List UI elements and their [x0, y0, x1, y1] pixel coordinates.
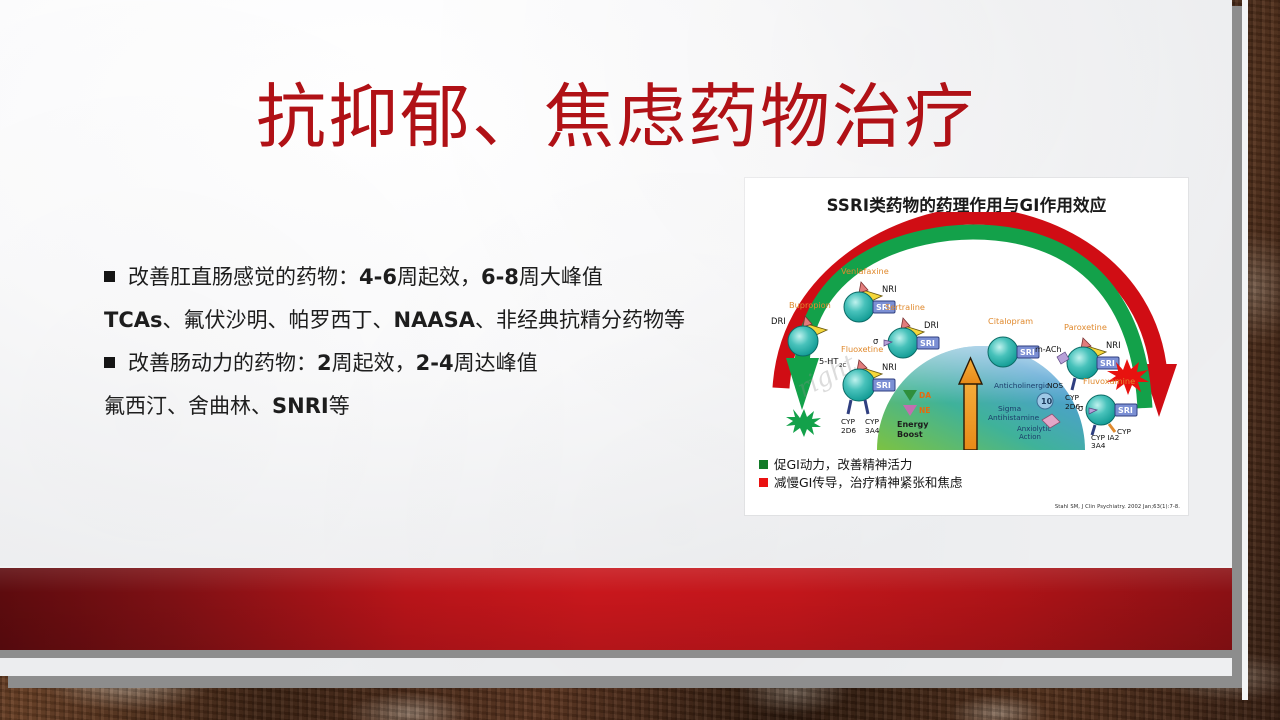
green-legend-swatch-icon — [759, 460, 768, 469]
svg-text:Antihistamine: Antihistamine — [988, 413, 1040, 422]
svg-text:2C: 2C — [839, 363, 847, 369]
body-line-3-suffix: 周达峰值 — [454, 351, 538, 375]
svg-text:Boost: Boost — [897, 430, 923, 439]
svg-text:CYP: CYP — [865, 417, 880, 426]
svg-text:Bupropion: Bupropion — [789, 300, 831, 310]
svg-text:DRI: DRI — [771, 316, 786, 326]
drug-venlafaxine: Venlafaxine NRI SRI — [841, 266, 897, 322]
svg-text:Fluoxetine: Fluoxetine — [841, 344, 883, 354]
page-title: 抗抑郁、焦虑药物治疗 — [0, 82, 1232, 152]
svg-text:SRI: SRI — [876, 381, 891, 390]
square-bullet-icon — [104, 271, 115, 282]
body-line-1-bold-a: 4-6 — [359, 265, 397, 289]
body-line-3-mid: 周起效， — [332, 351, 416, 375]
svg-text:SRI: SRI — [1020, 348, 1035, 357]
legend-row-green: 促GI动力，改善精神活力 — [759, 456, 962, 474]
figure-diagram-canvas: right — [745, 212, 1188, 450]
svg-text:Energy: Energy — [897, 420, 929, 429]
svg-text:DA: DA — [919, 391, 931, 400]
body-line-2-mid: 、氟伏沙明、帕罗西丁、 — [163, 308, 394, 332]
svg-text:CYP: CYP — [1065, 393, 1080, 402]
svg-text:σ: σ — [1078, 403, 1084, 413]
svg-text:Fluvoxamine: Fluvoxamine — [1083, 376, 1135, 386]
body-text-block: 改善肛直肠感觉的药物：4-6周起效，6-8周大峰值 TCAs、氟伏沙明、帕罗西丁… — [104, 256, 734, 428]
body-line-3-bold-b: 2-4 — [416, 351, 454, 375]
body-line-2: TCAs、氟伏沙明、帕罗西丁、NAASA、非经典抗精分药物等 — [104, 299, 734, 342]
svg-text:CYP: CYP — [841, 417, 856, 426]
slide-right-outer-edge — [1242, 0, 1248, 700]
svg-text:Action: Action — [1019, 433, 1041, 441]
svg-text:10: 10 — [1041, 397, 1053, 406]
svg-text:Sertraline: Sertraline — [885, 302, 925, 312]
body-line-3: 改善肠动力的药物：2周起效，2-4周达峰值 — [104, 342, 734, 385]
svg-text:Paroxetine: Paroxetine — [1064, 322, 1107, 332]
body-line-1-prefix: 改善肛直肠感觉的药物： — [128, 265, 359, 289]
body-line-4-suffix: 等 — [329, 394, 350, 418]
legend-green-label: 促GI动力，改善精神活力 — [774, 457, 912, 472]
body-line-1: 改善肛直肠感觉的药物：4-6周起效，6-8周大峰值 — [104, 256, 734, 299]
body-line-3-bold-a: 2 — [317, 351, 332, 375]
svg-text:2D6: 2D6 — [841, 426, 856, 435]
ssri-mechanism-figure: SSRI类药物的药理作用与GI作用效应 — [745, 178, 1188, 515]
red-legend-swatch-icon — [759, 478, 768, 487]
svg-text:3A4: 3A4 — [865, 426, 880, 435]
green-burst-icon — [786, 409, 821, 437]
svg-text:Citalopram: Citalopram — [988, 316, 1033, 326]
legend-red-label: 减慢GI传导，治疗精神紧张和焦虑 — [774, 475, 962, 490]
svg-text:SRI: SRI — [1100, 359, 1115, 368]
central-dome: DA NE Energy Boost Anticholinergic Sigma… — [877, 346, 1085, 450]
svg-text:NRI: NRI — [1106, 340, 1121, 350]
svg-text:DRI: DRI — [924, 320, 939, 330]
body-line-2-bold-a: TCAs — [104, 308, 163, 332]
svg-text:Venlafaxine: Venlafaxine — [841, 266, 889, 276]
body-line-4-bold-a: SNRI — [272, 394, 329, 418]
slide-stage: 抗抑郁、焦虑药物治疗 改善肛直肠感觉的药物：4-6周起效，6-8周大峰值 TCA… — [0, 0, 1280, 720]
footer-band-shadow — [0, 650, 1232, 658]
svg-text:Anxiolytic: Anxiolytic — [1017, 425, 1051, 433]
body-line-3-prefix: 改善肠动力的药物： — [128, 351, 317, 375]
slide-right-shadow-rail — [1232, 6, 1242, 688]
body-line-4: 氟西汀、舍曲林、SNRI等 — [104, 385, 734, 428]
presentation-slide: 抗抑郁、焦虑药物治疗 改善肛直肠感觉的药物：4-6周起效，6-8周大峰值 TCA… — [0, 0, 1232, 676]
svg-text:NOS: NOS — [1047, 381, 1063, 390]
figure-legend: 促GI动力，改善精神活力 减慢GI传导，治疗精神紧张和焦虑 — [759, 456, 962, 492]
svg-text:SRI: SRI — [920, 339, 935, 348]
body-line-2-bold-b: NAASA — [394, 308, 475, 332]
body-line-4-prefix: 氟西汀、舍曲林、 — [104, 394, 272, 418]
svg-text:NRI: NRI — [882, 362, 897, 372]
svg-text:SRI: SRI — [1118, 406, 1133, 415]
svg-text:5-HT: 5-HT — [819, 356, 839, 366]
body-line-1-suffix: 周大峰值 — [519, 265, 603, 289]
legend-row-red: 减慢GI传导，治疗精神紧张和焦虑 — [759, 474, 962, 492]
figure-citation: Stahl SM, J Clin Psychiatry. 2002 Jan;63… — [1055, 504, 1180, 510]
svg-text:NRI: NRI — [882, 284, 897, 294]
square-bullet-icon — [104, 357, 115, 368]
body-line-1-bold-b: 6-8 — [481, 265, 519, 289]
footer-band-gloss — [0, 568, 1232, 650]
svg-text:Anticholinergic: Anticholinergic — [994, 381, 1049, 390]
svg-text:m-ACh: m-ACh — [1035, 345, 1062, 354]
svg-text:Sigma: Sigma — [998, 404, 1021, 413]
svg-text:NE: NE — [919, 406, 930, 415]
svg-text:3A4: 3A4 — [1091, 441, 1106, 450]
body-line-2-suffix: 、非经典抗精分药物等 — [475, 308, 685, 332]
body-line-1-mid: 周起效， — [397, 265, 481, 289]
